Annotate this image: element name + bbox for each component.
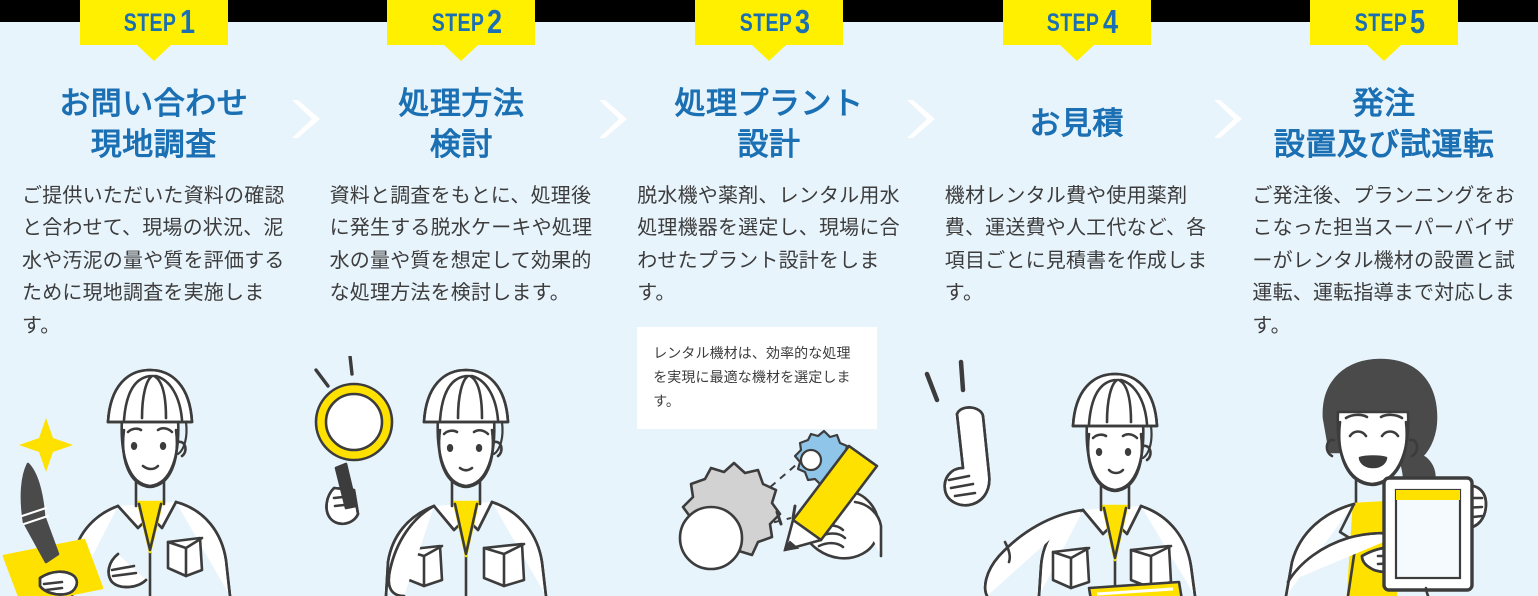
- step-badge-body-2: STEP 2: [387, 0, 535, 45]
- step-badge-3: STEP 3: [695, 0, 843, 45]
- chevron-right-icon-2: [597, 96, 633, 142]
- step-card-5: STEP 5 発注 設置及び試運転 ご発注後、プランニングをおこなった担当スーパ…: [1230, 0, 1538, 596]
- chevron-right-icon-4: [1212, 96, 1248, 142]
- step-title-line1-2: 処理方法: [398, 83, 524, 124]
- step-title-3: 処理プラント 設計: [615, 78, 923, 170]
- step-illustration-2: [308, 356, 616, 596]
- step-badge-word-5: STEP: [1355, 11, 1407, 36]
- step-badge-tail-1: [137, 45, 171, 61]
- step-badge-body-4: STEP 4: [1003, 0, 1151, 45]
- step-note-box-3: レンタル機材は、効率的な処理を実現に最適な機材を選定します。: [637, 327, 877, 429]
- gears-and-hand-with-pencil-icon: [615, 426, 923, 596]
- step-illustration-4: [923, 356, 1231, 596]
- step-body-5: ご発注後、プランニングをおこなった担当スーパーバイザーがレンタル機材の設置と試運…: [1252, 180, 1520, 342]
- step-badge-4: STEP 4: [1003, 0, 1151, 45]
- step-card-1: STEP 1 お問い合わせ 現地調査 ご提供いただいた資料の確認と合わせて、現場…: [0, 0, 308, 596]
- step-body-2: 資料と調査をもとに、処理後に発生する脱水ケーキや処理水の量や質を想定して効果的な…: [330, 180, 598, 310]
- step-illustration-3: [615, 426, 923, 596]
- step-badge-number-5: 5: [1410, 5, 1425, 38]
- step-badge-word-4: STEP: [1047, 11, 1099, 36]
- chevron-right-icon-3: [905, 96, 941, 142]
- step-title-line2-2: 検討: [430, 124, 493, 165]
- step-badge-tail-3: [752, 45, 786, 61]
- step-title-1: お問い合わせ 現地調査: [0, 78, 308, 170]
- step-badge-tail-2: [444, 45, 478, 61]
- step-illustration-1: [0, 356, 308, 596]
- step-title-line2-1: 現地調査: [91, 124, 217, 165]
- step-badge-1: STEP 1: [80, 0, 228, 45]
- step-card-2: STEP 2 処理方法 検討 資料と調査をもとに、処理後に発生する脱水ケーキや処…: [308, 0, 616, 596]
- worker-with-magnifying-glass-icon: [308, 356, 616, 596]
- woman-with-tablet-icon: [1230, 356, 1538, 596]
- chevron-right-icon-1: [290, 96, 326, 142]
- step-title-line1-1: お問い合わせ: [59, 83, 248, 124]
- step-badge-5: STEP 5: [1310, 0, 1458, 45]
- worker-with-clipboard-and-pen-icon: [0, 356, 308, 596]
- step-title-4: お見積: [923, 78, 1231, 170]
- step-body-1: ご提供いただいた資料の確認と合わせて、現場の状況、泥水や汚泥の量や質を評価するた…: [22, 180, 290, 342]
- step-card-4: STEP 4 お見積 機材レンタル費や使用薬剤費、運送費や人工代など、各項目ごと…: [923, 0, 1231, 596]
- step-badge-body-5: STEP 5: [1310, 0, 1458, 45]
- step-flow-section: STEP 1 お問い合わせ 現地調査 ご提供いただいた資料の確認と合わせて、現場…: [0, 0, 1538, 596]
- step-badge-number-1: 1: [180, 5, 195, 38]
- step-title-5: 発注 設置及び試運転: [1230, 78, 1538, 170]
- step-badge-number-3: 3: [795, 5, 810, 38]
- step-card-3: STEP 3 処理プラント 設計 脱水機や薬剤、レンタル用水処理機器を選定し、現…: [615, 0, 923, 596]
- step-illustration-5: [1230, 356, 1538, 596]
- magnifying-glass-icon: [321, 389, 387, 455]
- step-title-line2-3: 設計: [737, 124, 800, 165]
- step-badge-2: STEP 2: [387, 0, 535, 45]
- step-badge-word-2: STEP: [432, 11, 484, 36]
- step-badge-word-1: STEP: [124, 11, 176, 36]
- gear-large-icon: [680, 463, 780, 569]
- worker-pointing-up-icon: [923, 356, 1231, 596]
- step-badge-body-3: STEP 3: [695, 0, 843, 45]
- steps-container: STEP 1 お問い合わせ 現地調査 ご提供いただいた資料の確認と合わせて、現場…: [0, 0, 1538, 596]
- step-badge-number-2: 2: [487, 5, 502, 38]
- step-badge-body-1: STEP 1: [80, 0, 228, 45]
- step-badge-tail-4: [1060, 45, 1094, 61]
- step-badge-number-4: 4: [1103, 5, 1118, 38]
- step-title-line1-5: 発注: [1353, 83, 1416, 124]
- step-badge-word-3: STEP: [739, 11, 791, 36]
- step-title-2: 処理方法 検討: [308, 78, 616, 170]
- tablet-icon: [1384, 478, 1472, 590]
- step-title-line1-4: お見積: [1029, 103, 1124, 144]
- step-title-line2-5: 設置及び試運転: [1274, 124, 1495, 165]
- step-body-4: 機材レンタル費や使用薬剤費、運送費や人工代など、各項目ごとに見積書を作成します。: [945, 180, 1213, 310]
- step-badge-tail-5: [1367, 45, 1401, 61]
- step-body-3: 脱水機や薬剤、レンタル用水処理機器を選定し、現場に合わせたプラント設計をします。: [637, 180, 905, 310]
- step-title-line1-3: 処理プラント: [674, 83, 863, 124]
